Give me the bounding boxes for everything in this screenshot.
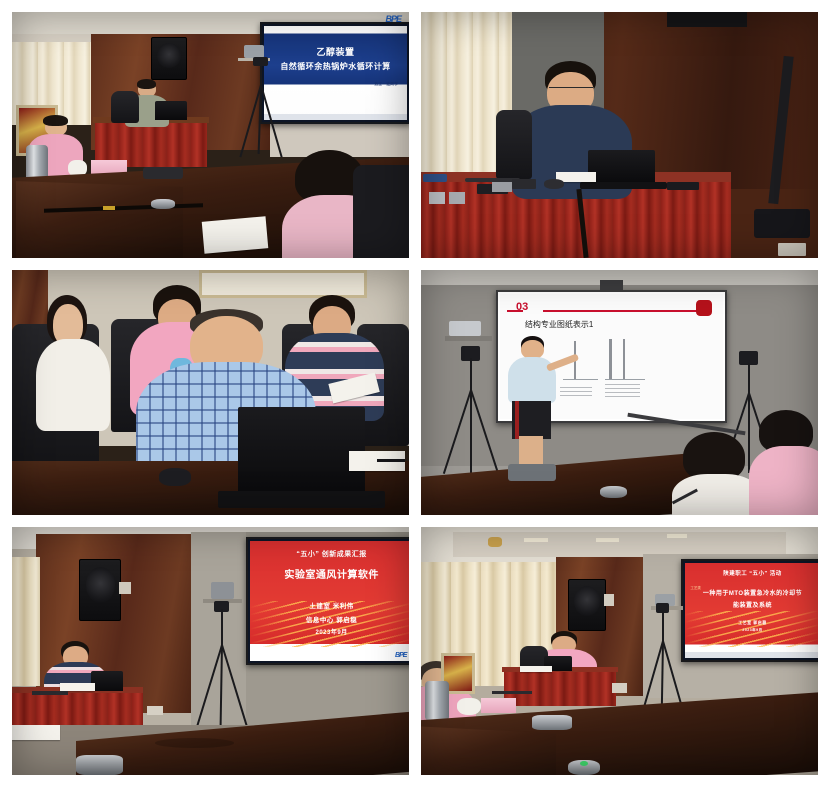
slide-5: “五小” 创新成果汇报 实验室通风计算软件 土建室 米利伟 信息中心 郭启稳 2… — [250, 541, 409, 661]
wall-switch-6 — [604, 594, 614, 606]
presenter-shorts-stripe — [515, 401, 519, 439]
presenter-standing — [508, 336, 556, 473]
bpe-watermark: BPE — [386, 14, 402, 24]
slide-title-5: 实验室通风计算软件 — [250, 570, 409, 583]
laptop-lid — [588, 150, 655, 184]
slide-taskbar-6 — [685, 652, 818, 659]
drawing-column-c — [623, 339, 626, 379]
slide-eyebrow-6: 陕建职工 “五小” 活动 — [685, 571, 818, 578]
wall-shelf-camera — [244, 45, 264, 57]
collage-photo-3[interactable] — [12, 270, 409, 515]
office-chair-2 — [496, 110, 532, 179]
ceiling-mount-bracket — [667, 12, 746, 27]
table-inset-6 — [421, 727, 556, 775]
slide-rule — [507, 310, 523, 312]
table-skirt-5 — [12, 691, 143, 731]
ceiling-speaker-6 — [568, 579, 606, 631]
badge-card-2 — [449, 192, 465, 204]
wall-display-5[interactable]: “五小” 创新成果汇报 实验室通风计算软件 土建室 米利伟 信息中心 郭启稳 2… — [246, 537, 409, 665]
yellow-cable-marker — [103, 206, 115, 210]
badge-card-1 — [429, 192, 445, 204]
power-outlet-6 — [612, 683, 628, 693]
wall-display-6[interactable]: 陕建职工 “五小” 活动 工艺类 一种用于MTO装置急冷水的冷却节 能装置及系统… — [681, 559, 818, 662]
drawing-baseline-a — [563, 379, 599, 380]
display-mount — [600, 280, 624, 290]
drawing-annotation-b — [605, 384, 641, 398]
laptop-base-3 — [218, 491, 385, 508]
pink-nameplate-6 — [481, 698, 517, 713]
slide-author-1: 土建室 米利伟 — [250, 603, 409, 611]
blue-lanyard — [423, 174, 447, 181]
ceiling-inner — [453, 532, 787, 557]
slide-date: 2023年9月 — [250, 630, 409, 638]
company-logo — [696, 300, 712, 316]
drawing-annotation-a — [560, 387, 591, 398]
collage-photo-6[interactable]: 陕建职工 “五小” 活动 工艺类 一种用于MTO装置急冷水的冷却节 能装置及系统… — [421, 527, 818, 775]
attendee-woman — [36, 295, 107, 413]
collage-photo-4[interactable]: 03 结构专业图纸表示1 — [421, 270, 818, 515]
conference-microphone-1 — [151, 199, 175, 209]
ceiling-light-3 — [667, 534, 687, 537]
power-outlet — [778, 243, 806, 255]
laptop-case — [143, 167, 183, 179]
computer-mouse — [159, 468, 191, 485]
thermos-flask-6 — [425, 681, 449, 721]
ceiling-speaker — [151, 37, 187, 81]
collage-photo-2[interactable] — [421, 12, 818, 258]
laptop-5 — [91, 671, 123, 691]
camera-tripod-1 — [230, 61, 294, 159]
tripod-shadow — [155, 738, 234, 748]
camera-tripod-5 — [179, 606, 266, 745]
slide-rule-long — [543, 310, 712, 312]
wall-sconce — [488, 537, 502, 547]
ceiling-speaker-5 — [79, 559, 121, 621]
power-outlet-5 — [147, 706, 163, 716]
collage-photo-5[interactable]: “五小” 创新成果汇报 实验室通风计算软件 土建室 米利伟 信息中心 郭启稳 2… — [12, 527, 409, 775]
wall-switch — [119, 582, 131, 594]
photo-collage: 乙醇装置 自然循环余热锅炉水循环计算 热工一班同学 BPE — [0, 0, 830, 790]
slide-6: 陕建职工 “五小” 活动 工艺类 一种用于MTO装置急冷水的冷却节 能装置及系统… — [685, 563, 818, 658]
teacup-6 — [457, 698, 481, 715]
tripod-foot — [754, 209, 810, 239]
smartphone — [667, 182, 699, 191]
slide-title-line-2: 能装置及系统 — [685, 603, 818, 611]
device-box-2 — [492, 182, 512, 192]
slide-eyebrow: “五小” 创新成果汇报 — [250, 551, 409, 560]
desk-paper-5 — [60, 683, 96, 690]
microphone-5 — [32, 691, 68, 695]
table-skirt-6 — [504, 671, 615, 706]
foreground-chair — [353, 165, 409, 258]
wall-shelf-camera-5 — [211, 582, 235, 599]
slide-author-6: 工艺室 郭启稳 — [685, 620, 818, 625]
wall-shelf-4 — [445, 336, 493, 341]
device-box-3 — [512, 179, 536, 189]
slide-heading: 结构专业图纸表示1 — [525, 319, 593, 330]
webcam-puck — [600, 486, 628, 498]
laptop-base — [580, 182, 667, 189]
foreground-attendee-a — [675, 432, 754, 515]
desk-paper-6 — [520, 666, 552, 672]
camera-tripod-left — [445, 353, 501, 476]
stacked-documents — [12, 725, 60, 740]
drawing-column-b — [609, 339, 612, 379]
document-paper — [201, 216, 267, 253]
eyeglasses — [549, 87, 593, 93]
drawing-baseline-b — [605, 379, 645, 380]
slide-logo-bpe: BPE — [395, 652, 406, 659]
ceiling-light-2 — [596, 538, 620, 542]
ceiling-light-1 — [524, 538, 548, 542]
window-curtain-5 — [12, 557, 40, 686]
speakerphone-case — [508, 464, 556, 481]
microphone-6 — [492, 691, 532, 694]
collage-photo-1[interactable]: 乙醇装置 自然循环余热锅炉水循环计算 热工一班同学 BPE — [12, 12, 409, 258]
presenter-laptop — [155, 101, 187, 121]
speakerphone-5 — [76, 755, 124, 775]
conference-table-inset — [16, 181, 183, 258]
mouse — [544, 179, 564, 189]
slide-author-2: 信息中心 郭启稳 — [250, 617, 409, 625]
wall-shelf-camera-4 — [449, 321, 481, 336]
laptop-lid-3 — [238, 407, 365, 495]
foreground-attendee-b — [754, 410, 818, 515]
presenter-chair — [111, 91, 139, 123]
slide-title-line-1: 一种用于MTO装置急冷水的冷却节 — [685, 591, 818, 599]
speakerphone-6 — [532, 715, 572, 730]
slide-title: 乙醇装置 — [264, 47, 407, 58]
slide-date-6: 2023年9月 — [685, 628, 818, 632]
pen — [377, 459, 405, 462]
